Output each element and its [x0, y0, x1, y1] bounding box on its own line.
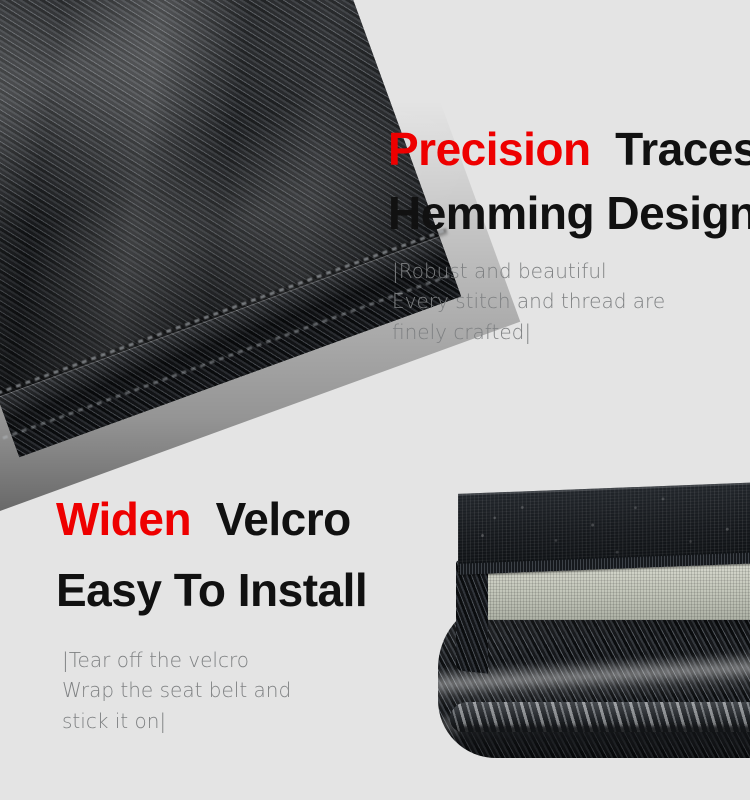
section2-body-text: |Tear off the velcro Wrap the seat belt …	[62, 645, 291, 736]
section2-headline-accent: Widen	[56, 493, 191, 545]
section2-headline-rest: Velcro	[216, 493, 351, 545]
section2-headline-line2: Easy To Install	[56, 567, 367, 613]
cover-left-edge	[456, 560, 488, 673]
section2-headline-line1: Widen Velcro	[56, 496, 351, 542]
section1-headline-line2: Hemming Design	[388, 190, 750, 236]
product-feature-banner: Precision Traces Hemming Design |Robust …	[0, 0, 750, 800]
section1-headline-accent: Precision	[388, 123, 591, 175]
section1-body-text: |Robust and beautiful Every stitch and t…	[392, 256, 665, 347]
section1-headline-line1: Precision Traces	[388, 126, 750, 172]
cover-bottom-taper-shadow	[460, 726, 750, 756]
velcro-opened-cover-photo	[420, 470, 750, 780]
section1-headline-rest: Traces	[615, 123, 750, 175]
